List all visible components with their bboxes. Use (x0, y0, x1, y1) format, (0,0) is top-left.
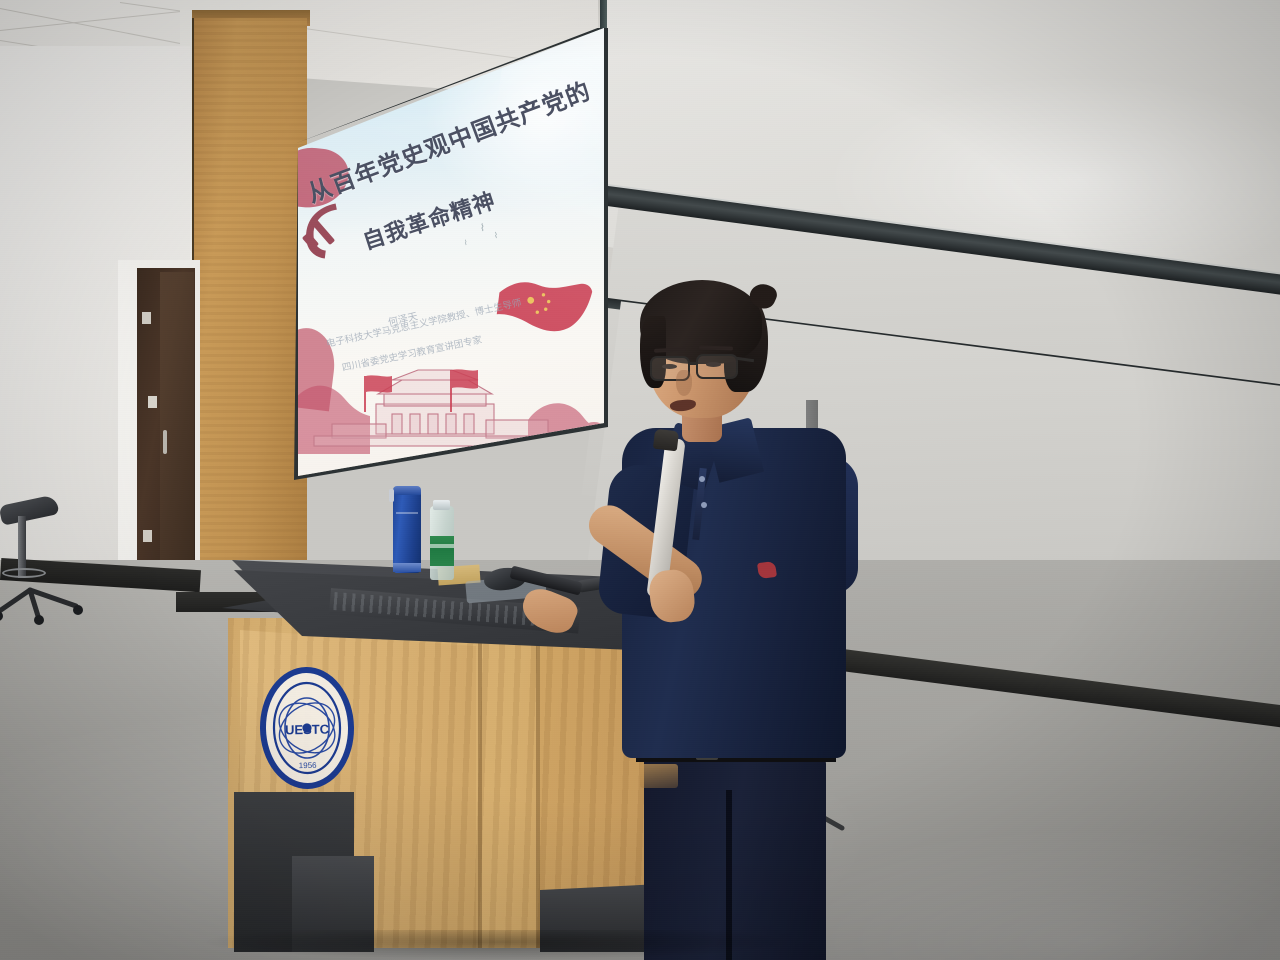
projection-screen: ⌇ ⌇ ⌇ (284, 28, 614, 480)
podium-floor-shadow (200, 930, 800, 960)
podium-panel-seam (478, 628, 482, 948)
door-hinge-plate (148, 396, 157, 408)
shirt-chest-logo (757, 561, 777, 579)
eyeglasses-right-lens (696, 354, 738, 379)
uestc-seal-year: 1956 (299, 761, 318, 770)
slide-speaker-affiliation-1: 电子科技大学马克思主义学院教授、博士生导师 (325, 295, 523, 350)
uestc-university-seal: UESTC 1956 (258, 665, 356, 791)
projection-screen-assembly: ⌇ ⌇ ⌇ (284, 28, 614, 480)
speaker (600, 270, 920, 960)
thermos-cap[interactable] (393, 486, 421, 495)
microphone-head (653, 429, 679, 452)
uestc-seal-initials: UESTC (285, 722, 330, 738)
office-chair-base (0, 586, 100, 626)
eyeglasses-bridge (689, 362, 698, 365)
door-hinge-plate (143, 530, 152, 542)
podium-panel-seam (536, 634, 540, 948)
slide-text-block: 从百年党史观中国共产党的 自我革命精神 何泽天 电子科技大学马克思主义学院教授、… (284, 28, 614, 480)
office-chair-ring (2, 568, 46, 578)
pocket-highlight (640, 764, 678, 788)
slide-title-line-1: 从百年党史观中国共产党的 (302, 71, 595, 209)
thermos-base-band (393, 563, 421, 572)
polo-button (701, 502, 707, 508)
lecture-hall-photo: ⌇ ⌇ ⌇ (0, 0, 1280, 960)
door-handle[interactable] (163, 430, 167, 454)
thermos-clip (389, 489, 394, 502)
door-hinge-plate (142, 312, 151, 324)
polo-button (699, 476, 705, 482)
slide-title-line-2: 自我革命精神 (358, 183, 499, 256)
water-bottle-label (430, 536, 454, 566)
water-bottle-label-stripe (430, 544, 454, 548)
thermos-printed-text (396, 512, 418, 556)
water-bottle-cap[interactable] (433, 500, 450, 510)
speaker-nose (676, 370, 692, 396)
